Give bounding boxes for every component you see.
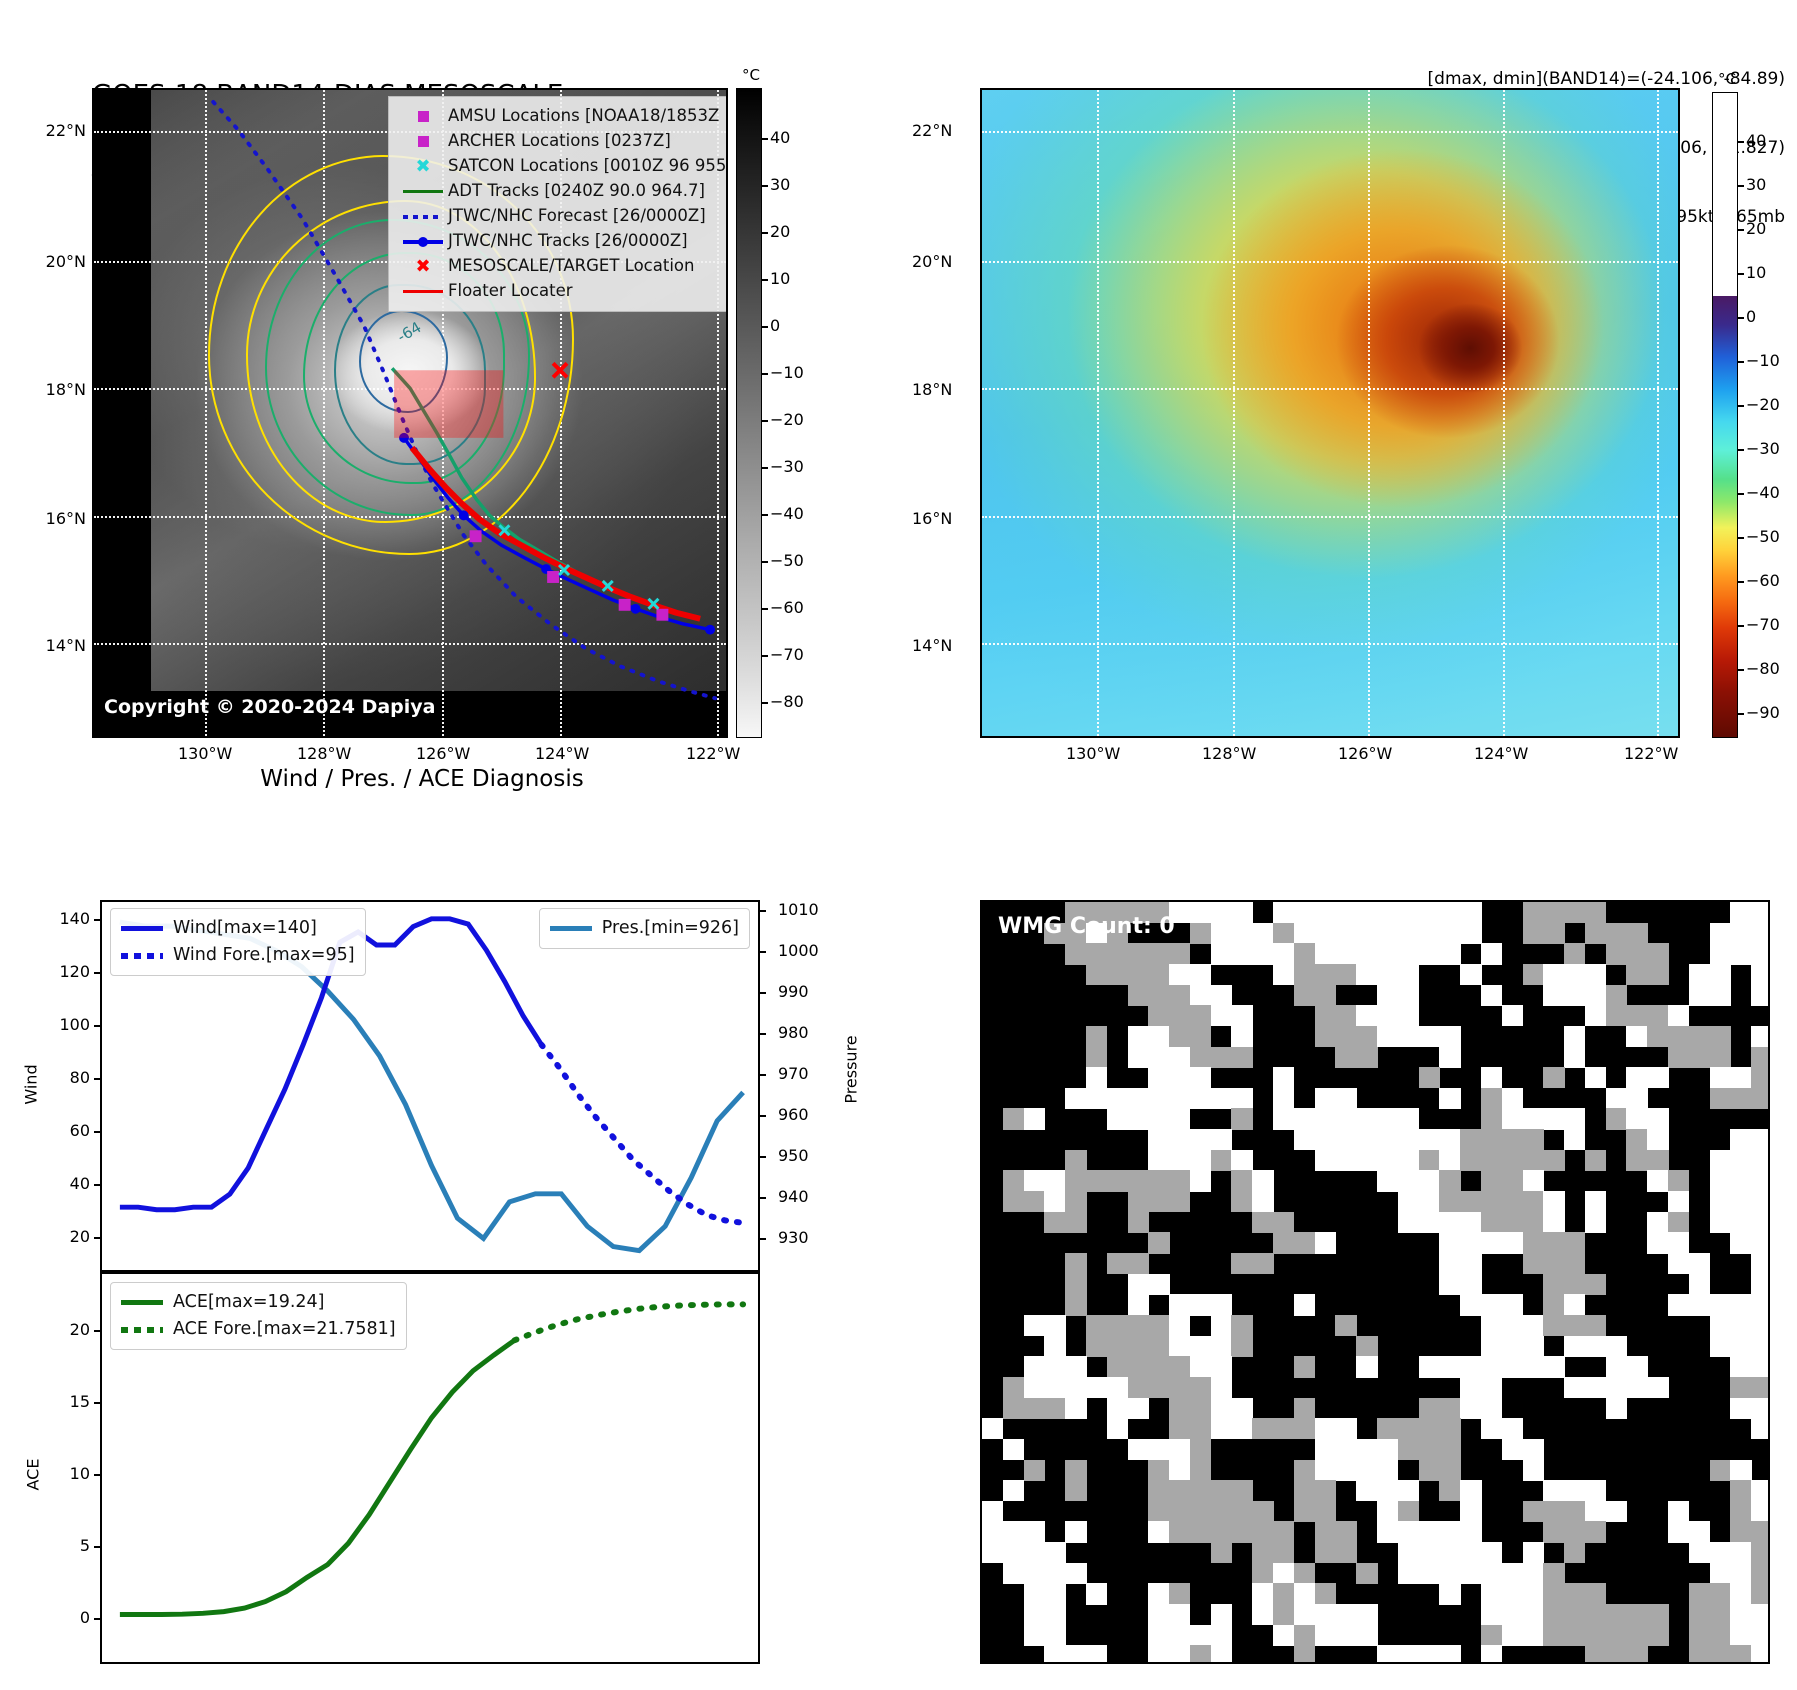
wmg-cell	[1523, 1232, 1544, 1253]
wmg-cell	[1523, 1542, 1544, 1563]
colorbar-tick: 0	[1746, 307, 1756, 326]
wmg-cell	[1252, 1170, 1273, 1191]
wmg-cell	[1647, 1005, 1668, 1026]
gridline-lat-18	[982, 388, 1678, 390]
wmg-cell	[1003, 1521, 1024, 1542]
wmg-cell	[1730, 1356, 1751, 1377]
lat-tick-label: 22°N	[26, 121, 86, 140]
wmg-cell	[1356, 1026, 1377, 1047]
wmg-cell	[1439, 1088, 1460, 1109]
wmg-cell	[1398, 1191, 1419, 1212]
legend-item-pressure[interactable]: Pres.[min=926]	[550, 915, 739, 942]
wmg-cell	[1315, 902, 1336, 923]
wmg-cell	[1169, 1521, 1190, 1542]
wmg-cell	[1606, 1088, 1627, 1109]
legend-item-ace-forecast[interactable]: ACE Fore.[max=21.7581]	[121, 1316, 396, 1343]
wmg-cell	[1585, 1191, 1606, 1212]
sat1-colorbar	[736, 88, 762, 738]
wmg-cell	[1689, 1026, 1710, 1047]
legend-item-adt[interactable]: ADT Tracks [0240Z 90.0 964.7]	[398, 179, 728, 204]
wmg-cell	[1169, 1191, 1190, 1212]
wmg-cell	[1148, 1356, 1169, 1377]
wmg-cell	[1003, 1191, 1024, 1212]
pressure-tick-label: 940	[778, 1187, 809, 1206]
wmg-cell	[1564, 1501, 1585, 1522]
wmg-cell	[1523, 1191, 1544, 1212]
legend-item-mesoscale-target[interactable]: ✖ MESOSCALE/TARGET Location	[398, 254, 728, 279]
wmg-cell	[1481, 1150, 1502, 1171]
lon-tick-label: 122°W	[686, 744, 740, 763]
wmg-cell	[1419, 1170, 1440, 1191]
wmg-cell	[1065, 1191, 1086, 1212]
wmg-cell	[1003, 1377, 1024, 1398]
wmg-cell	[1689, 1604, 1710, 1625]
wmg-cell	[1044, 1604, 1065, 1625]
wmg-cell	[1273, 1604, 1294, 1625]
wmg-cell	[1086, 1315, 1107, 1336]
wmg-cell	[1439, 902, 1460, 923]
wmg-cell	[1169, 985, 1190, 1006]
gridline-lat-16	[982, 516, 1678, 518]
wind-tick-label: 140	[40, 909, 90, 928]
wmg-cell	[1606, 923, 1627, 944]
wmg-cell	[1211, 1398, 1232, 1419]
wmg-cell	[1315, 1501, 1336, 1522]
wmg-cell	[1148, 1315, 1169, 1336]
wmg-cell	[1148, 1521, 1169, 1542]
wmg-cell	[1730, 1604, 1751, 1625]
wmg-cell	[1107, 1336, 1128, 1357]
wmg-cell	[1751, 1356, 1770, 1377]
wmg-cell	[1294, 1625, 1315, 1646]
wmg-cell	[1148, 1336, 1169, 1357]
wmg-cell	[1086, 1026, 1107, 1047]
legend-item-jtwc-tracks[interactable]: JTWC/NHC Tracks [26/0000Z]	[398, 229, 728, 254]
wmg-cell	[1356, 1460, 1377, 1481]
wmg-cell	[1148, 1604, 1169, 1625]
wmg-cell	[1460, 1129, 1481, 1150]
wmg-cell	[1751, 1150, 1770, 1171]
wmg-cell	[1190, 1067, 1211, 1088]
wmg-cell	[1710, 1150, 1731, 1171]
wmg-cell	[1169, 1625, 1190, 1646]
wmg-cell	[1585, 1521, 1606, 1542]
wmg-cell	[1003, 1398, 1024, 1419]
wmg-cell	[1460, 1563, 1481, 1584]
colorbar-tick: −40	[1746, 483, 1780, 502]
wmg-cell	[1065, 1398, 1086, 1419]
wmg-cell	[1315, 1026, 1336, 1047]
wmg-cell	[1502, 1336, 1523, 1357]
wmg-cell	[1128, 943, 1149, 964]
x-red-icon: ✖	[398, 258, 448, 276]
wmg-cell	[1502, 1625, 1523, 1646]
wmg-cell	[1377, 1170, 1398, 1191]
colorbar-tick: 40	[1746, 131, 1766, 150]
ace-legend[interactable]: ACE[max=19.24] ACE Fore.[max=21.7581]	[110, 1282, 407, 1350]
legend-item-wind[interactable]: Wind[max=140]	[121, 915, 355, 942]
wmg-cell	[1419, 1542, 1440, 1563]
wmg-cell	[1606, 1377, 1627, 1398]
wmg-cell	[1439, 1253, 1460, 1274]
legend-item-wind-forecast[interactable]: Wind Fore.[max=95]	[121, 942, 355, 969]
pressure-legend[interactable]: Pres.[min=926]	[539, 908, 750, 949]
wmg-cell	[1585, 923, 1606, 944]
wmg-cell	[1689, 1047, 1710, 1068]
wmg-cell	[1211, 1625, 1232, 1646]
wmg-cell	[1439, 1418, 1460, 1439]
wmg-cell	[1502, 1563, 1523, 1584]
wmg-cell	[1606, 943, 1627, 964]
legend-item-floater-locater[interactable]: Floater Locater	[398, 279, 728, 304]
wmg-bitmap	[982, 902, 1768, 1662]
wmg-cell	[1730, 923, 1751, 944]
wmg-cell	[1065, 1460, 1086, 1481]
wmg-cell	[1273, 1418, 1294, 1439]
wmg-cell	[1065, 1563, 1086, 1584]
legend-item-satcon[interactable]: ✖ SATCON Locations [0010Z 96 955]	[398, 154, 728, 179]
wmg-cell	[1710, 1170, 1731, 1191]
wmg-cell	[1148, 1645, 1169, 1664]
lon-tick-label: 126°W	[416, 744, 470, 763]
wmg-cell	[1502, 1129, 1523, 1150]
wmg-cell	[1294, 1604, 1315, 1625]
wmg-cell	[1128, 1253, 1149, 1274]
wmg-cell	[1252, 1604, 1273, 1625]
wmg-cell	[1502, 1150, 1523, 1171]
line-green-icon	[398, 190, 448, 193]
wmg-cell	[1730, 1625, 1751, 1646]
legend-label: AMSU Locations [NOAA18/1853Z 101 958]	[448, 108, 728, 125]
sat2-colorbar-unit: °C	[1718, 70, 1736, 88]
wmg-cell	[1647, 1170, 1668, 1191]
wmg-cell	[1003, 1480, 1024, 1501]
wmg-cell	[1065, 1480, 1086, 1501]
wmg-cell	[1107, 964, 1128, 985]
wmg-cell	[1335, 1418, 1356, 1439]
wmg-cell	[1377, 1521, 1398, 1542]
wmg-cell	[1439, 1563, 1460, 1584]
wmg-cell	[1751, 1377, 1770, 1398]
wmg-cell	[1585, 1212, 1606, 1233]
legend-label: Wind Fore.[max=95]	[173, 947, 355, 965]
wmg-cell	[1523, 1170, 1544, 1191]
wmg-cell	[1502, 1108, 1523, 1129]
gridline-lat-14	[982, 643, 1678, 645]
wmg-cell	[1231, 1005, 1252, 1026]
wmg-cell	[1315, 1460, 1336, 1481]
ace-axis-title: ACE	[24, 1440, 43, 1510]
wmg-cell	[1751, 1480, 1770, 1501]
wmg-cell	[1211, 1356, 1232, 1377]
wmg-cell	[1647, 964, 1668, 985]
wmg-cell	[1211, 1336, 1232, 1357]
legend-label: ADT Tracks [0240Z 90.0 964.7]	[448, 183, 705, 200]
wmg-cell	[1710, 1294, 1731, 1315]
wmg-cell	[1481, 1088, 1502, 1109]
wmg-cell	[1003, 1170, 1024, 1191]
wmg-cell	[1044, 1645, 1065, 1664]
wmg-cell	[1024, 1583, 1045, 1604]
wmg-cell	[1419, 1460, 1440, 1481]
wmg-cell	[1086, 964, 1107, 985]
wind-pressure-chart[interactable]: Wind[max=140] Wind Fore.[max=95] Pres.[m…	[100, 900, 760, 1272]
wmg-cell	[1419, 1418, 1440, 1439]
wmg-cell	[1377, 1480, 1398, 1501]
wmg-cell	[1128, 1315, 1149, 1336]
wmg-cell	[1024, 1191, 1045, 1212]
wmg-cell	[1398, 1170, 1419, 1191]
wmg-cell	[1356, 1047, 1377, 1068]
wmg-cell	[1543, 1108, 1564, 1129]
wmg-cell	[1502, 1294, 1523, 1315]
wmg-cell	[1710, 1460, 1731, 1481]
wmg-cell	[1460, 923, 1481, 944]
legend-item-amsu[interactable]: AMSU Locations [NOAA18/1853Z 101 958]	[398, 104, 728, 129]
pressure-tick-label: 1010	[778, 900, 819, 919]
wmg-cell	[1543, 1150, 1564, 1171]
wmg-cell	[1523, 1501, 1544, 1522]
wmg-cell	[1419, 923, 1440, 944]
wmg-panel[interactable]: WMG Count: 0	[980, 900, 1770, 1664]
wmg-cell	[1626, 1645, 1647, 1664]
wmg-cell	[1481, 1398, 1502, 1419]
diagnosis-title: Wind / Pres. / ACE Diagnosis	[92, 766, 752, 792]
wmg-cell	[1335, 1088, 1356, 1109]
wmg-cell	[1148, 964, 1169, 985]
wmg-cell	[1294, 1356, 1315, 1377]
wmg-cell	[1523, 1150, 1544, 1171]
wmg-cell	[1398, 1563, 1419, 1584]
wmg-cell	[1211, 1418, 1232, 1439]
wmg-cell	[1460, 1398, 1481, 1419]
wmg-cell	[1710, 1315, 1731, 1336]
wmg-cell	[1689, 1583, 1710, 1604]
wmg-cell	[1647, 1026, 1668, 1047]
wmg-cell	[1647, 1625, 1668, 1646]
wmg-cell	[1543, 985, 1564, 1006]
wmg-cell	[1439, 1232, 1460, 1253]
wmg-cell	[1439, 1460, 1460, 1481]
map-legend[interactable]: AMSU Locations [NOAA18/1853Z 101 958] AR…	[388, 96, 728, 312]
satellite-panel-band14[interactable]: -64	[92, 88, 728, 738]
wmg-cell	[1377, 1418, 1398, 1439]
wmg-cell	[1024, 1542, 1045, 1563]
wmg-cell	[1294, 985, 1315, 1006]
wmg-cell	[1481, 943, 1502, 964]
wmg-cell	[1543, 1067, 1564, 1088]
wmg-cell	[1148, 1129, 1169, 1150]
wmg-cell	[1211, 1377, 1232, 1398]
wmg-cell	[1273, 1521, 1294, 1542]
wmg-cell	[1252, 1191, 1273, 1212]
wmg-cell	[1356, 964, 1377, 985]
wmg-cell	[1315, 1542, 1336, 1563]
wmg-cell	[1626, 923, 1647, 944]
wmg-cell	[1335, 1150, 1356, 1171]
wmg-cell	[1398, 1129, 1419, 1150]
legend-label: ACE[max=19.24]	[173, 1294, 324, 1312]
wmg-cell	[1460, 1274, 1481, 1295]
wmg-cell	[1128, 1398, 1149, 1419]
wmg-cell	[1024, 1398, 1045, 1419]
satellite-image-color	[980, 88, 1680, 738]
wmg-cell	[1398, 943, 1419, 964]
wmg-cell	[1481, 1583, 1502, 1604]
wmg-cell	[1211, 1150, 1232, 1171]
lat-tick-label: 14°N	[26, 636, 86, 655]
wmg-cell	[1543, 902, 1564, 923]
wmg-cell	[1585, 1625, 1606, 1646]
wmg-cell	[1564, 1377, 1585, 1398]
lon-tick-label: 130°W	[178, 744, 232, 763]
wmg-cell	[1398, 1645, 1419, 1664]
wmg-cell	[1585, 1480, 1606, 1501]
wmg-cell	[1086, 1067, 1107, 1088]
wmg-cell	[1169, 1604, 1190, 1625]
wmg-cell	[1481, 1356, 1502, 1377]
wmg-cell	[1543, 1274, 1564, 1295]
wmg-cell	[1585, 985, 1606, 1006]
sat2-colorbar-ticks: 40 30 20 10 0 −10 −20 −30 −40 −50 −60 −7…	[1746, 92, 1797, 738]
wmg-cell	[1211, 1005, 1232, 1026]
wmg-cell	[1481, 985, 1502, 1006]
wmg-cell	[1460, 1150, 1481, 1171]
wmg-cell	[1148, 1191, 1169, 1212]
wmg-cell	[1481, 1212, 1502, 1233]
wmg-cell	[1003, 1439, 1024, 1460]
wmg-cell	[1107, 1315, 1128, 1336]
wmg-cell	[1606, 1108, 1627, 1129]
legend-label: Wind[max=140]	[173, 920, 317, 938]
wmg-cell	[1335, 1439, 1356, 1460]
wmg-cell	[1751, 1274, 1770, 1295]
wmg-cell	[1606, 1501, 1627, 1522]
wmg-cell	[1564, 1625, 1585, 1646]
wmg-cell	[1211, 1521, 1232, 1542]
satellite-panel-awv[interactable]	[980, 88, 1680, 738]
wmg-cell	[1377, 1645, 1398, 1664]
wmg-cell	[1730, 1398, 1751, 1419]
wmg-cell	[1335, 1542, 1356, 1563]
wmg-cell	[1585, 1604, 1606, 1625]
wmg-cell	[1169, 1005, 1190, 1026]
wmg-cell	[1128, 1191, 1149, 1212]
wmg-cell	[1710, 1583, 1731, 1604]
wmg-cell	[1231, 1398, 1252, 1419]
wmg-cell	[1211, 902, 1232, 923]
wmg-cell	[1294, 1418, 1315, 1439]
wmg-cell	[1751, 1563, 1770, 1584]
wmg-cell	[1273, 964, 1294, 985]
line-blue-marker-icon	[398, 240, 448, 244]
wmg-cell	[1419, 943, 1440, 964]
wmg-cell	[1439, 1047, 1460, 1068]
wmg-cell	[1460, 1356, 1481, 1377]
wmg-cell	[1751, 1191, 1770, 1212]
wmg-cell	[1730, 1480, 1751, 1501]
wmg-cell	[1585, 902, 1606, 923]
wmg-cell	[1128, 1274, 1149, 1295]
wmg-cell	[1294, 1294, 1315, 1315]
ace-forecast-series	[515, 1304, 744, 1340]
wmg-cell	[1626, 1625, 1647, 1646]
wind-tick-label: 80	[40, 1068, 90, 1087]
legend-label: SATCON Locations [0010Z 96 955]	[448, 158, 728, 175]
pressure-tick-label: 980	[778, 1023, 809, 1042]
wmg-cell	[1169, 1583, 1190, 1604]
gridline-lat-20	[982, 261, 1678, 263]
wmg-cell	[1751, 1315, 1770, 1336]
wmg-cell	[1460, 1521, 1481, 1542]
wmg-cell	[1502, 1191, 1523, 1212]
wmg-cell	[1315, 985, 1336, 1006]
wmg-cell	[1730, 943, 1751, 964]
wmg-cell	[1460, 1212, 1481, 1233]
wmg-cell	[1169, 1418, 1190, 1439]
wmg-cell	[1481, 1542, 1502, 1563]
wmg-cell	[1751, 923, 1770, 944]
wmg-cell	[1730, 1460, 1751, 1481]
ace-chart[interactable]: ACE[max=19.24] ACE Fore.[max=21.7581]	[100, 1272, 760, 1664]
wmg-cell	[1211, 1129, 1232, 1150]
wmg-cell	[1751, 902, 1770, 923]
wmg-cell	[1710, 1191, 1731, 1212]
wmg-cell	[1419, 1191, 1440, 1212]
legend-item-jtwc-forecast[interactable]: JTWC/NHC Forecast [26/0000Z]	[398, 204, 728, 229]
wmg-cell	[1419, 1398, 1440, 1419]
wmg-cell	[1128, 964, 1149, 985]
wmg-cell	[1460, 964, 1481, 985]
legend-item-ace[interactable]: ACE[max=19.24]	[121, 1289, 396, 1316]
wmg-cell	[1439, 1274, 1460, 1295]
wmg-cell	[1169, 1336, 1190, 1357]
wmg-cell	[1606, 1336, 1627, 1357]
wmg-cell	[1190, 1336, 1211, 1357]
wmg-cell	[1523, 1625, 1544, 1646]
wmg-cell	[1377, 964, 1398, 985]
wmg-cell	[1335, 1047, 1356, 1068]
wmg-cell	[1647, 1129, 1668, 1150]
pressure-tick-label: 950	[778, 1146, 809, 1165]
wmg-cell	[1315, 1088, 1336, 1109]
wmg-cell	[1044, 1315, 1065, 1336]
wmg-cell	[1585, 1645, 1606, 1664]
wmg-cell	[1626, 1026, 1647, 1047]
legend-item-archer[interactable]: ARCHER Locations [0237Z]	[398, 129, 728, 154]
wmg-cell	[1606, 1625, 1627, 1646]
wmg-cell	[1231, 1501, 1252, 1522]
wind-legend[interactable]: Wind[max=140] Wind Fore.[max=95]	[110, 908, 366, 976]
wmg-cell	[1294, 1129, 1315, 1150]
wmg-cell	[1523, 964, 1544, 985]
wmg-cell	[1211, 943, 1232, 964]
wmg-cell	[1751, 1232, 1770, 1253]
wmg-cell	[1252, 943, 1273, 964]
wmg-cell	[1668, 1521, 1689, 1542]
wmg-cell	[1169, 1108, 1190, 1129]
wmg-cell	[1543, 1583, 1564, 1604]
wmg-cell	[1086, 1583, 1107, 1604]
wmg-cell	[1190, 964, 1211, 985]
wmg-cell	[1169, 943, 1190, 964]
wmg-cell	[1190, 1439, 1211, 1460]
wmg-cell	[1107, 1253, 1128, 1274]
wmg-cell	[1419, 1150, 1440, 1171]
wmg-cell	[1523, 1460, 1544, 1481]
lat-tick-label: 14°N	[912, 636, 952, 655]
wmg-cell	[1460, 1480, 1481, 1501]
